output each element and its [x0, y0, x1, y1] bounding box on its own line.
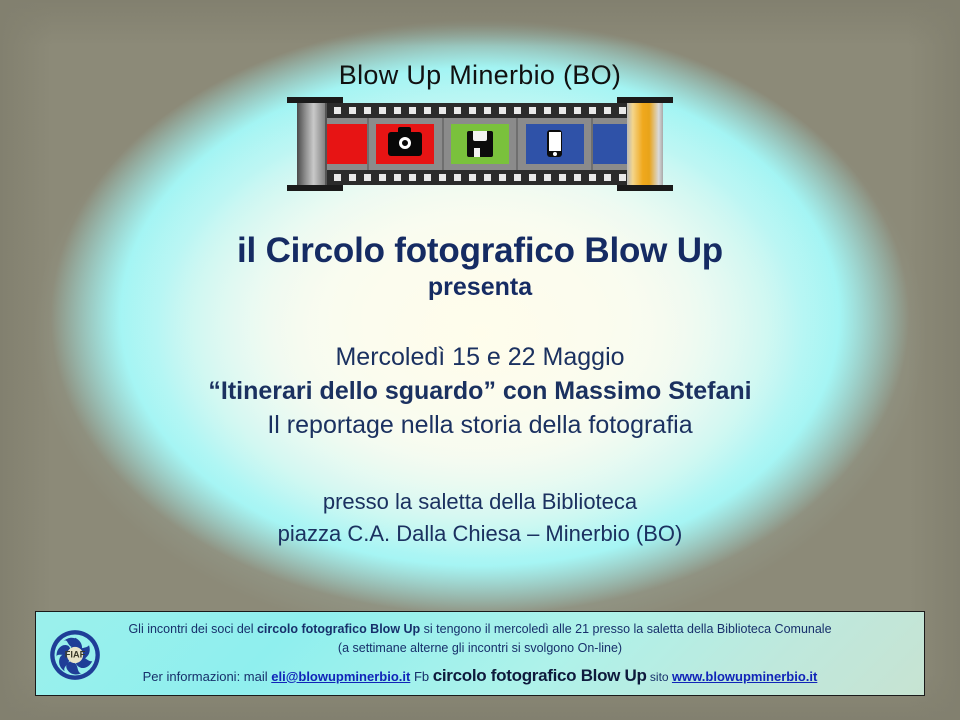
perforation-hole — [529, 107, 536, 114]
footer-site-label: sito — [647, 670, 672, 684]
filmstrip-frames — [327, 118, 633, 170]
perforation-hole — [379, 107, 386, 114]
perforation-hole — [559, 174, 566, 181]
perforation-hole — [499, 174, 506, 181]
film-roll-right-bottom-bar — [617, 185, 673, 191]
website-link[interactable]: www.blowupminerbio.it — [672, 669, 817, 684]
perforation-hole — [559, 107, 566, 114]
perforation-hole — [394, 107, 401, 114]
footer-info-box: FIAF Gli incontri dei soci del circolo f… — [35, 611, 925, 696]
perforation-hole — [529, 174, 536, 181]
perforation-hole — [364, 174, 371, 181]
perforation-hole — [574, 174, 581, 181]
perforation-hole — [424, 107, 431, 114]
camera-icon — [388, 132, 422, 156]
film-frame-swatch-red-partial — [327, 124, 367, 164]
film-frame-edge-left — [327, 118, 369, 170]
phone-button — [553, 152, 557, 156]
perforation-hole — [604, 174, 611, 181]
perforation-hole — [574, 107, 581, 114]
filmstrip-body — [325, 103, 635, 185]
footer-line-3: Per informazioni: mail eli@blowupminerbi… — [36, 663, 924, 689]
perforation-hole — [379, 174, 386, 181]
perforation-hole — [349, 107, 356, 114]
perforation-hole — [364, 107, 371, 114]
perforation-hole — [439, 174, 446, 181]
email-link[interactable]: eli@blowupminerbio.it — [271, 669, 410, 684]
event-date: Mercoledì 15 e 22 Maggio — [0, 341, 960, 375]
perforation-hole — [589, 107, 596, 114]
perforation-hole — [409, 107, 416, 114]
perforation-hole — [544, 107, 551, 114]
filmstrip-graphic — [291, 97, 669, 190]
perforation-hole — [469, 107, 476, 114]
poster-canvas: Blow Up Minerbio (BO) — [0, 0, 960, 720]
footer-line-1-c: si tengono il mercoledì alle 21 presso l… — [420, 622, 831, 636]
logo-block: Blow Up Minerbio (BO) — [0, 62, 960, 190]
event-description: Il reportage nella storia della fotograf… — [0, 409, 960, 443]
phone-screen — [549, 132, 561, 151]
perforation-hole — [544, 174, 551, 181]
perforation-hole — [334, 174, 341, 181]
film-frame-camera — [369, 118, 444, 170]
footer-line-1-a: Gli incontri dei soci del — [128, 622, 257, 636]
film-roll-left-bottom-bar — [287, 185, 343, 191]
film-frame-floppy — [444, 118, 519, 170]
venue-line-2: piazza C.A. Dalla Chiesa – Minerbio (BO) — [0, 518, 960, 550]
perforation-hole — [349, 174, 356, 181]
film-frame-phone — [518, 118, 593, 170]
perforation-hole — [409, 174, 416, 181]
floppy-notch — [480, 148, 486, 157]
perforation-hole — [334, 107, 341, 114]
perforation-hole — [619, 174, 626, 181]
perforation-hole — [469, 174, 476, 181]
footer-contact-label: Per informazioni: mail — [143, 669, 272, 684]
perforation-hole — [394, 174, 401, 181]
footer-club-name: circolo fotografico Blow Up — [257, 622, 420, 636]
film-roll-right-top-bar — [617, 97, 673, 103]
film-frame-swatch-green — [451, 124, 509, 164]
presents-label: presenta — [0, 272, 960, 303]
event-title: “Itinerari dello sguardo” con Massimo St… — [0, 375, 960, 409]
perforation-hole — [619, 107, 626, 114]
facebook-page-name: circolo fotografico Blow Up — [433, 666, 647, 685]
perforation-hole — [514, 107, 521, 114]
perforation-hole — [499, 107, 506, 114]
floppy-shutter — [473, 131, 487, 141]
perforation-hole — [589, 174, 596, 181]
perforation-hole — [454, 107, 461, 114]
footer-line-2: (a settimane alterne gli incontri si svo… — [36, 639, 924, 658]
perforation-hole — [514, 174, 521, 181]
floppy-disk-icon — [467, 131, 493, 157]
perforation-hole — [484, 107, 491, 114]
perforation-hole — [424, 174, 431, 181]
perforation-hole — [484, 174, 491, 181]
venue-block: presso la saletta della Biblioteca piazz… — [0, 486, 960, 550]
film-frame-swatch-red — [376, 124, 434, 164]
perforation-hole — [439, 107, 446, 114]
perforation-hole — [454, 174, 461, 181]
perforation-hole — [604, 107, 611, 114]
film-frame-swatch-blue — [526, 124, 584, 164]
footer-line-1: Gli incontri dei soci del circolo fotogr… — [36, 620, 924, 639]
event-block: Mercoledì 15 e 22 Maggio “Itinerari dell… — [0, 341, 960, 442]
smartphone-icon — [547, 130, 562, 157]
page-title: il Circolo fotografico Blow Up — [0, 232, 960, 270]
venue-line-1: presso la saletta della Biblioteca — [0, 486, 960, 518]
club-logo-title: Blow Up Minerbio (BO) — [0, 62, 960, 89]
filmstrip-perforations-bottom — [327, 170, 633, 185]
footer-fb-label: Fb — [410, 669, 432, 684]
film-roll-right-icon — [627, 103, 663, 185]
filmstrip-perforations-top — [327, 103, 633, 118]
main-content: il Circolo fotografico Blow Up presenta … — [0, 232, 960, 550]
footer-text-lines: Gli incontri dei soci del circolo fotogr… — [36, 620, 924, 689]
